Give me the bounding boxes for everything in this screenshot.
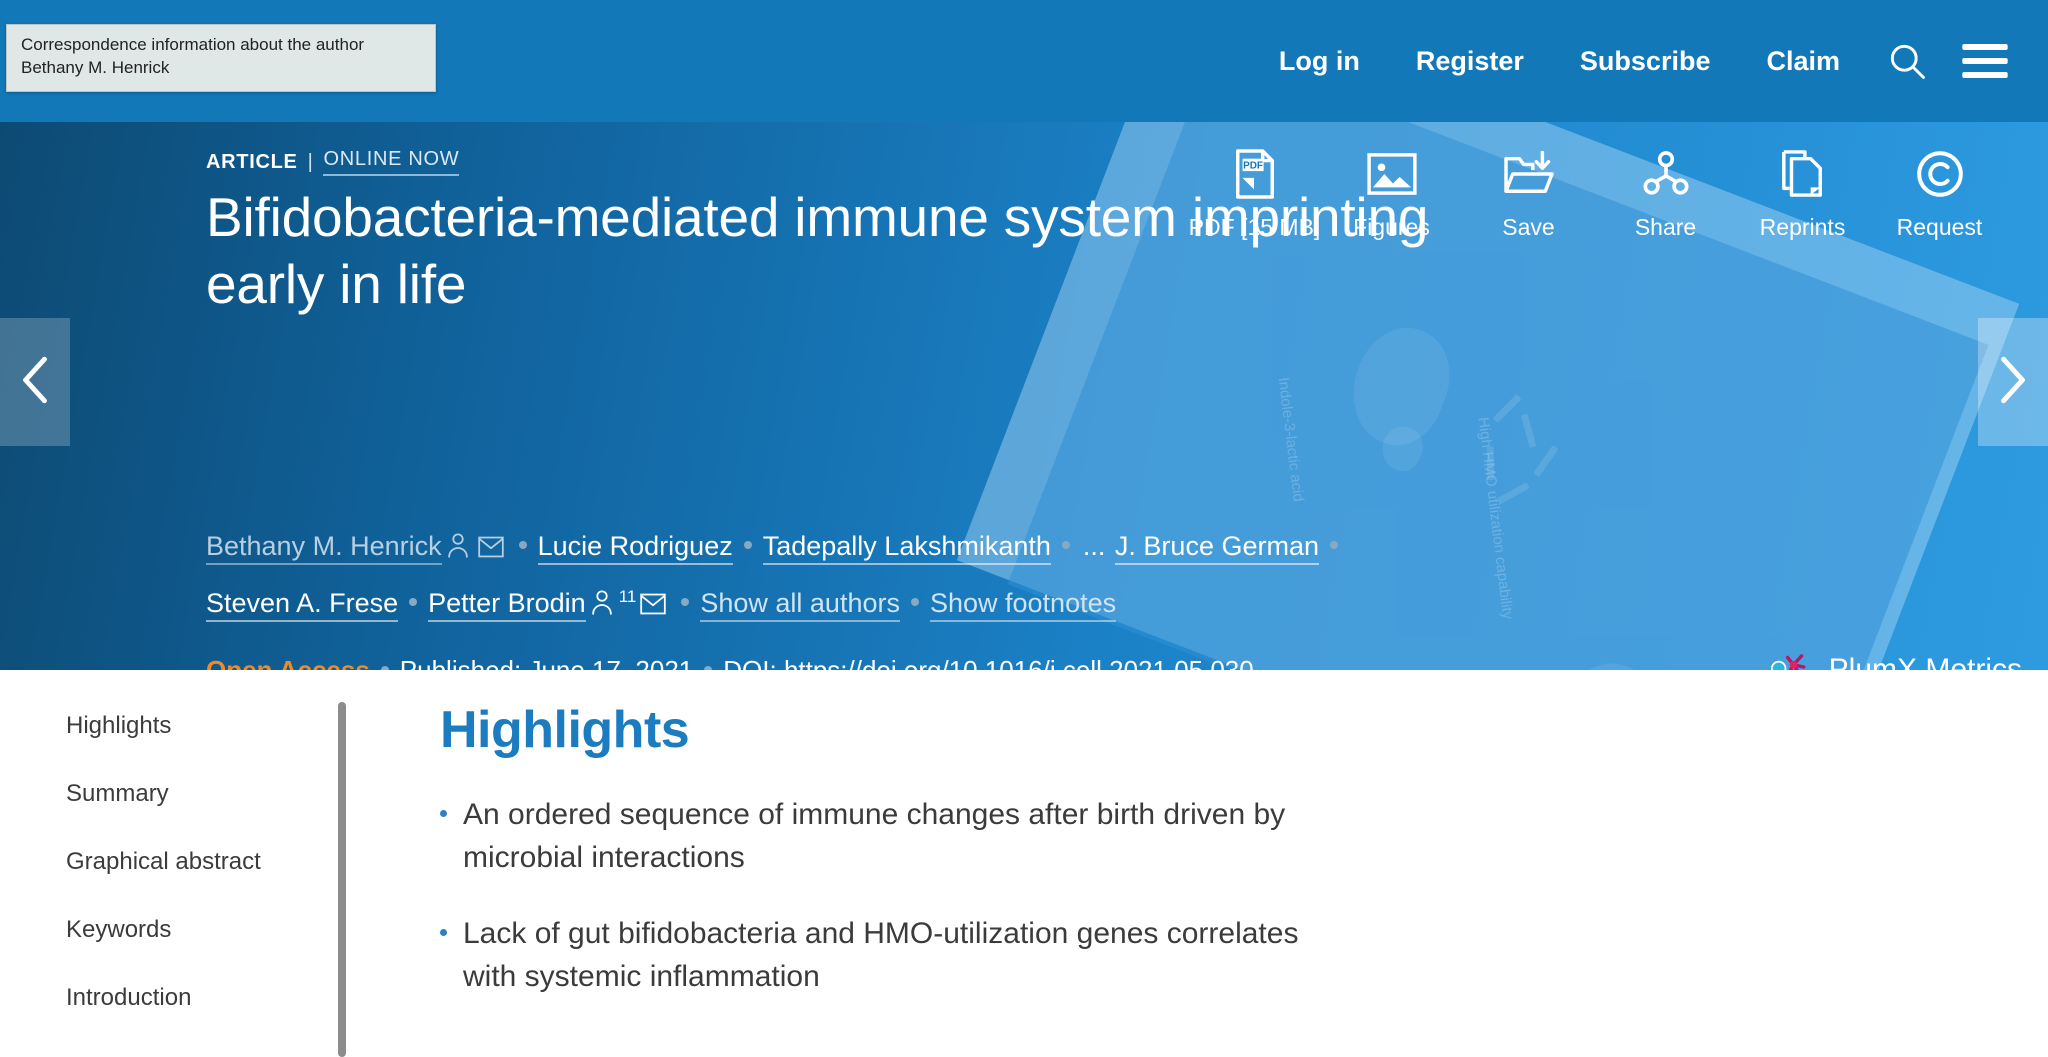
- article-metadata: Open AccessPublished: June 17, 2021DOI: …: [206, 655, 1254, 670]
- chevron-right-icon: [1996, 353, 2030, 412]
- article-hero-banner: Indole-3-lactic acid High HMO utilizatio…: [0, 122, 2048, 670]
- author-separator-dot: [409, 598, 417, 606]
- author-separator-dot: [681, 598, 689, 606]
- carousel-next-button[interactable]: [1978, 318, 2048, 446]
- plumx-icon: [1771, 650, 1813, 670]
- open-access-badge[interactable]: Open Access: [206, 655, 370, 670]
- show-footnotes-link[interactable]: Show footnotes: [930, 588, 1116, 622]
- kicker-separator: |: [308, 151, 314, 174]
- author-steven-a-frese[interactable]: Steven A. Frese: [206, 588, 398, 622]
- bullet-dot-icon: [440, 929, 447, 936]
- author-lucie-rodriguez[interactable]: Lucie Rodriguez: [538, 531, 733, 565]
- copyright-icon: [1916, 146, 1964, 202]
- show-all-authors-link[interactable]: Show all authors: [700, 588, 900, 622]
- nav-link-register[interactable]: Register: [1388, 0, 1552, 122]
- highlight-list-item: An ordered sequence of immune changes af…: [440, 794, 1340, 879]
- documents-copy-icon: [1780, 146, 1826, 202]
- author-email-icon[interactable]: [640, 582, 666, 630]
- article-type-label: ARTICLE: [206, 151, 298, 174]
- sidebar-item-graphical-abstract[interactable]: Graphical abstract: [0, 828, 345, 896]
- top-nav-links: Log in Register Subscribe Claim: [1251, 0, 2024, 122]
- author-j-bruce-german[interactable]: J. Bruce German: [1115, 531, 1319, 565]
- article-status-link[interactable]: ONLINE NOW: [323, 148, 459, 176]
- highlights-section: Highlights An ordered sequence of immune…: [440, 670, 1840, 1032]
- author-ellipsis: ...: [1083, 531, 1106, 561]
- author-separator-dot: [519, 541, 527, 549]
- doi-label: DOI:: [723, 655, 776, 670]
- search-button[interactable]: [1868, 22, 1946, 100]
- article-section-nav: Highlights Summary Graphical abstract Ke…: [0, 670, 345, 1032]
- nav-link-login[interactable]: Log in: [1251, 0, 1388, 122]
- action-request[interactable]: Request: [1871, 146, 2008, 241]
- author-list: Bethany M. HenrickLucie RodriguezTadepal…: [206, 522, 1526, 630]
- action-request-label: Request: [1897, 214, 1983, 241]
- author-person-icon[interactable]: [590, 582, 614, 630]
- article-body: Highlights Summary Graphical abstract Ke…: [0, 670, 2048, 1057]
- sidebar-item-keywords[interactable]: Keywords: [0, 896, 345, 964]
- published-date: Published: June 17, 2021: [400, 655, 693, 670]
- author-email-icon[interactable]: [478, 525, 504, 573]
- author-tadepally-lakshmikanth[interactable]: Tadepally Lakshmikanth: [763, 531, 1051, 565]
- author-separator-dot: [1062, 541, 1070, 549]
- chevron-left-icon: [18, 353, 52, 412]
- doi-link[interactable]: https://doi.org/10.1016/j.cell.2021.05.0…: [784, 655, 1254, 670]
- sidebar-scroll-indicator[interactable]: [338, 702, 346, 1057]
- author-separator-dot: [1330, 541, 1338, 549]
- sidebar-item-summary[interactable]: Summary: [0, 760, 345, 828]
- author-bethany-m-henrick[interactable]: Bethany M. Henrick: [206, 531, 442, 565]
- bullet-dot-icon: [440, 810, 447, 817]
- tooltip-line-2: Bethany M. Henrick: [21, 57, 421, 80]
- sidebar-item-introduction[interactable]: Introduction: [0, 964, 345, 1032]
- action-reprints[interactable]: Reprints: [1734, 146, 1871, 241]
- author-separator-dot: [744, 541, 752, 549]
- tooltip-line-1: Correspondence information about the aut…: [21, 34, 421, 57]
- author-person-icon[interactable]: [446, 525, 470, 573]
- plumx-label: PlumX Metrics: [1829, 653, 2022, 671]
- article-title: Bifidobacteria-mediated immune system im…: [206, 184, 1456, 318]
- hamburger-menu-icon: [1962, 44, 2008, 78]
- nav-link-claim[interactable]: Claim: [1738, 0, 1868, 122]
- search-icon: [1885, 39, 1929, 83]
- hero-content: ARTICLE | ONLINE NOW Bifidobacteria-medi…: [206, 122, 1706, 670]
- highlight-text: Lack of gut bifidobacteria and HMO-utili…: [463, 913, 1340, 998]
- sidebar-item-highlights[interactable]: Highlights: [0, 692, 345, 760]
- author-petter-brodin[interactable]: Petter Brodin: [428, 588, 586, 622]
- menu-button[interactable]: [1946, 22, 2024, 100]
- author-correspondence-tooltip: Correspondence information about the aut…: [6, 24, 436, 92]
- highlight-text: An ordered sequence of immune changes af…: [463, 794, 1340, 879]
- action-reprints-label: Reprints: [1760, 214, 1846, 241]
- nav-link-subscribe[interactable]: Subscribe: [1552, 0, 1739, 122]
- author-footnote-marker[interactable]: 11: [619, 587, 637, 606]
- plumx-metrics-link[interactable]: PlumX Metrics: [1771, 650, 2022, 670]
- section-heading-highlights: Highlights: [440, 700, 1840, 760]
- article-page: Cell Log in Register Subscribe Claim: [0, 0, 2048, 1057]
- carousel-prev-button[interactable]: [0, 318, 70, 446]
- highlight-list-item: Lack of gut bifidobacteria and HMO-utili…: [440, 913, 1340, 998]
- author-separator-dot: [911, 598, 919, 606]
- article-kicker: ARTICLE | ONLINE NOW: [206, 148, 459, 176]
